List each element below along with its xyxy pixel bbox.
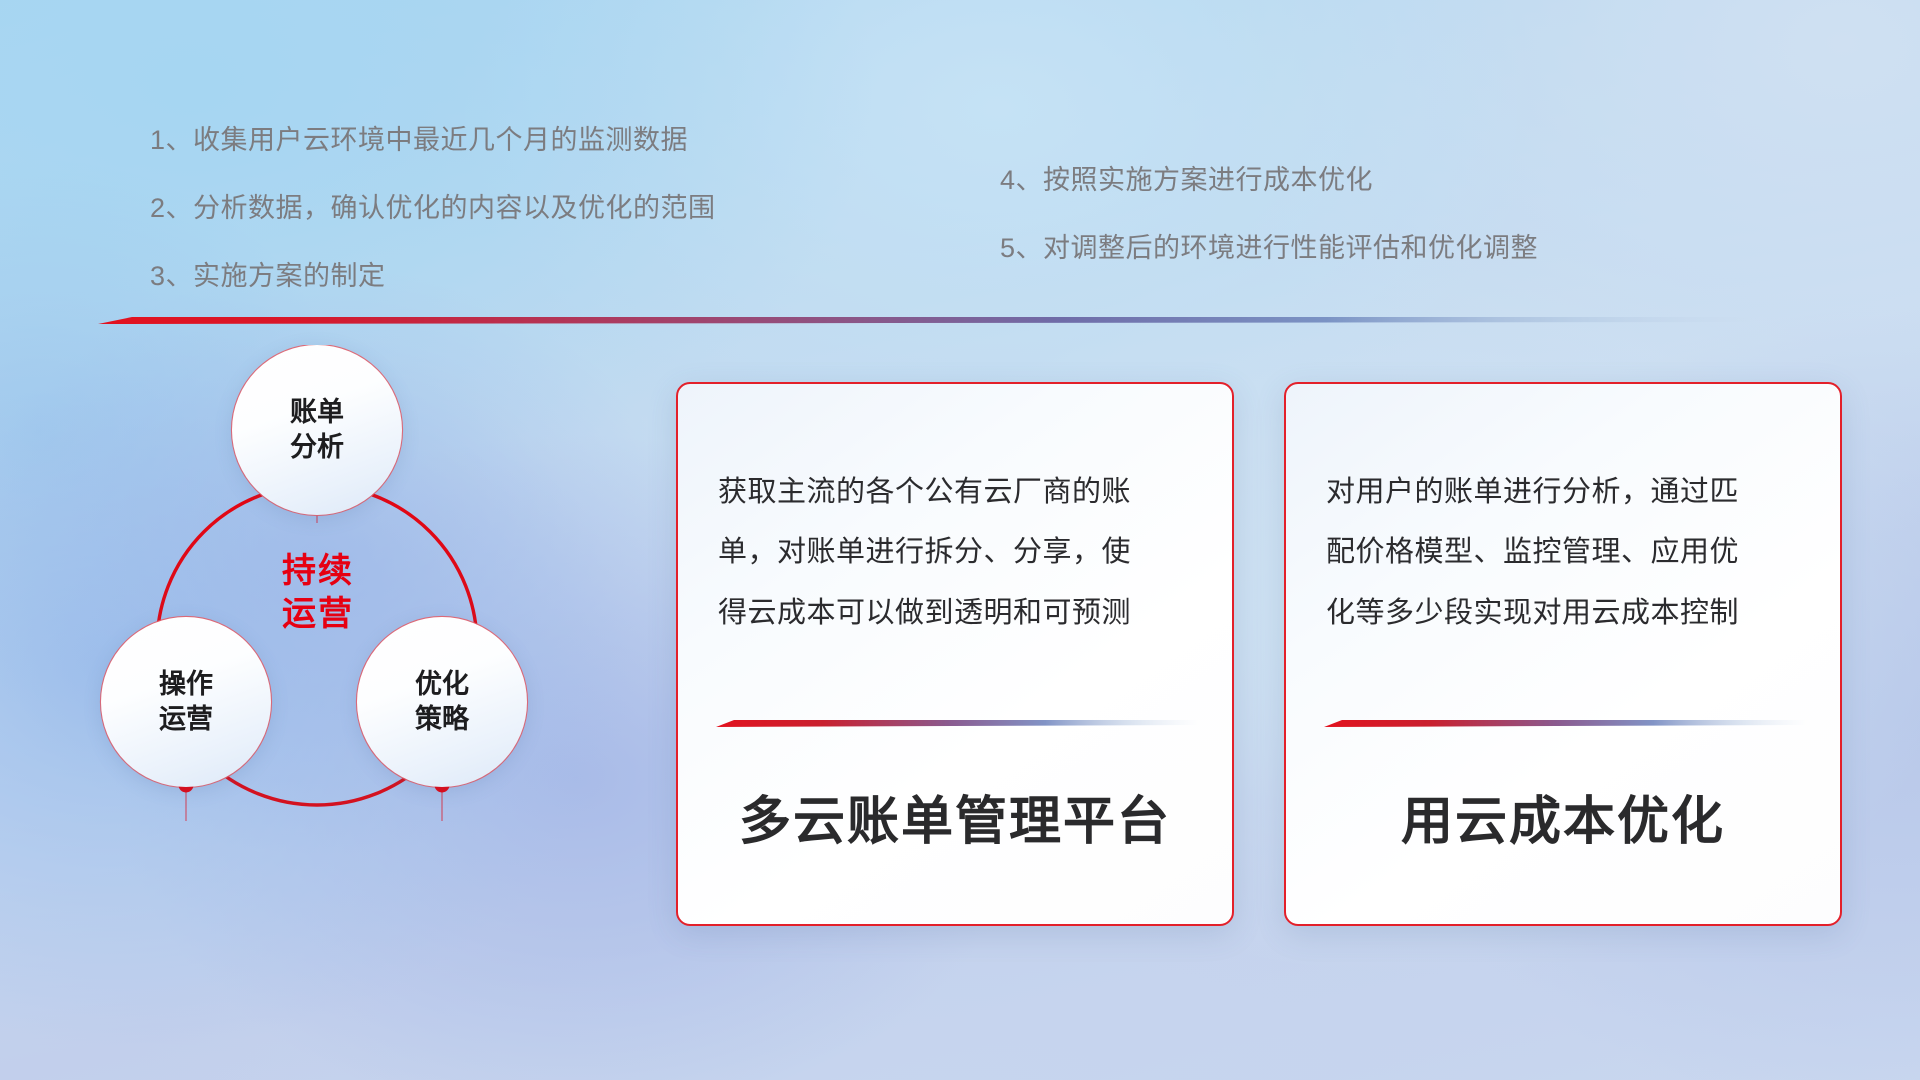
card-left-description-line1: 获取主流的各个公有云厂商的账 (718, 462, 1196, 522)
feature-card-cloud-cost-optimization[interactable]: 对用户的账单进行分析，通过匹 配价格模型、监控管理、应用优 化等多少段实现对用云… (1284, 382, 1842, 926)
step-item-2: 2、分析数据，确认优化的内容以及优化的范围 (150, 186, 716, 225)
card-right-description-line1: 对用户的账单进行分析，通过匹 (1326, 462, 1804, 522)
diagram-node-operations[interactable]: 操作 运营 (101, 617, 271, 787)
section-divider (98, 315, 1758, 325)
center-label-line1: 持续 (213, 550, 423, 593)
card-right-divider (1324, 720, 1808, 727)
diagram-node-billing-analysis[interactable]: 账单 分析 (232, 345, 402, 515)
diagram-node-optimization[interactable]: 优化 策略 (357, 617, 527, 787)
step-item-4: 4、按照实施方案进行成本优化 (1000, 158, 1538, 197)
step-item-3: 3、实施方案的制定 (150, 254, 716, 293)
steps-list-left: 1、收集用户云环境中最近几个月的监测数据 2、分析数据，确认优化的内容以及优化的… (150, 118, 716, 322)
center-label-line2: 运营 (213, 593, 423, 636)
card-left-description-line3: 得云成本可以做到透明和可预测 (718, 583, 1196, 643)
diagram-node-billing-analysis-label: 账单 分析 (290, 395, 344, 464)
steps-list-right: 4、按照实施方案进行成本优化 5、对调整后的环境进行性能评估和优化调整 (1000, 158, 1538, 294)
diagram-center-label: 持续 运营 (213, 550, 423, 635)
card-left-title: 多云账单管理平台 (678, 779, 1232, 854)
diagram-node-optimization-label: 优化 策略 (415, 667, 469, 736)
card-right-description-line3: 化等多少段实现对用云成本控制 (1326, 583, 1804, 643)
card-right-description-line2: 配价格模型、监控管理、应用优 (1326, 522, 1804, 582)
card-right-description: 对用户的账单进行分析，通过匹 配价格模型、监控管理、应用优 化等多少段实现对用云… (1326, 462, 1804, 643)
step-item-5: 5、对调整后的环境进行性能评估和优化调整 (1000, 226, 1538, 265)
card-left-divider (716, 720, 1200, 727)
feature-card-multi-cloud-billing-platform[interactable]: 获取主流的各个公有云厂商的账 单，对账单进行拆分、分享，使 得云成本可以做到透明… (676, 382, 1234, 926)
card-right-title: 用云成本优化 (1286, 779, 1840, 854)
continuous-operations-diagram: 账单 分析 操作 运营 优化 策略 持续 运营 (95, 345, 625, 945)
card-left-description: 获取主流的各个公有云厂商的账 单，对账单进行拆分、分享，使 得云成本可以做到透明… (718, 462, 1196, 643)
card-left-description-line2: 单，对账单进行拆分、分享，使 (718, 522, 1196, 582)
step-item-1: 1、收集用户云环境中最近几个月的监测数据 (150, 118, 716, 157)
diagram-node-operations-label: 操作 运营 (159, 667, 213, 736)
